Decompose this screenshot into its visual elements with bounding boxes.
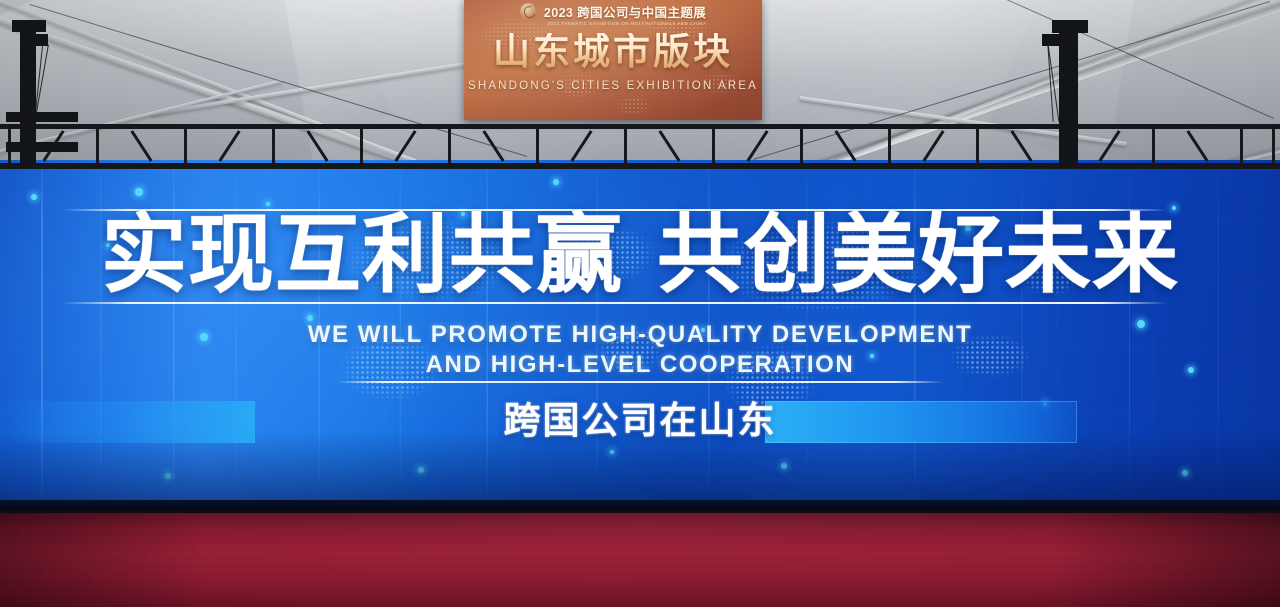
truss-brace	[746, 130, 768, 162]
led-video-wall: 实现互利共赢共创美好未来 WE WILL PROMOTE HIGH-QUALIT…	[0, 160, 1280, 500]
led-particle	[31, 194, 37, 200]
truss-top-chord	[0, 124, 1280, 129]
lifting-tower-head-left	[12, 20, 46, 32]
truss-bottom-chord	[0, 163, 1280, 169]
truss-post	[1240, 128, 1243, 164]
banner-header-row: 2023 跨国公司与中国主题展	[464, 0, 762, 22]
stage-truss	[0, 124, 1280, 168]
banner-main-title-en: SHANDONG'S CITIES EXHIBITION AREA	[464, 79, 762, 92]
truss-brace	[1098, 130, 1120, 162]
banner-event-title-en: 2023 THEMATIC EXHIBITION ON MULTINATIONA…	[478, 21, 762, 26]
lifting-tower-bracket-right	[1042, 34, 1062, 46]
stage-front-edge	[0, 500, 1280, 513]
truss-post	[1272, 128, 1275, 164]
truss-post	[800, 128, 803, 164]
truss-brace	[394, 130, 416, 162]
truss-post	[976, 128, 979, 164]
led-particle	[553, 179, 559, 185]
truss-post	[360, 128, 363, 164]
truss-brace	[482, 130, 504, 162]
subtitle-line-1: WE WILL PROMOTE HIGH-QUALITY DEVELOPMENT	[0, 320, 1280, 350]
truss-post	[536, 128, 539, 164]
truss-brace	[658, 130, 680, 162]
stage-scene: 2023 跨国公司与中国主题展 2023 THEMATIC EXHIBITION…	[0, 0, 1280, 607]
exhibition-emblem-icon	[520, 3, 537, 20]
subtitle-bottom-rule	[336, 381, 944, 383]
led-particle	[135, 188, 143, 196]
truss-brace	[922, 130, 944, 162]
truss-brace	[1010, 130, 1032, 162]
lifting-tower-base-left	[6, 142, 78, 152]
banner-main-title-cn: 山东城市版块	[464, 33, 762, 70]
truss-brace	[834, 130, 856, 162]
lifting-tower-head-right	[1052, 20, 1088, 33]
truss-brace	[570, 130, 592, 162]
truss-post	[888, 128, 891, 164]
truss-post	[184, 128, 187, 164]
truss-brace	[130, 130, 152, 162]
lifting-tower-bracket-left	[26, 34, 48, 46]
truss-post	[272, 128, 275, 164]
truss-post	[1152, 128, 1155, 164]
red-carpet-floor	[0, 513, 1280, 607]
truss-brace	[218, 130, 240, 162]
led-headline: 实现互利共赢共创美好未来	[0, 212, 1280, 298]
led-particle	[266, 202, 270, 206]
truss-brace	[306, 130, 328, 162]
truss-post	[624, 128, 627, 164]
truss-brace	[1186, 130, 1208, 162]
led-tagline: 跨国公司在山东	[0, 398, 1280, 444]
carpet-vignette	[0, 513, 1280, 607]
subtitle-line-2: AND HIGH-LEVEL COOPERATION	[0, 350, 1280, 380]
truss-post	[448, 128, 451, 164]
banner-event-title-cn: 2023 跨国公司与中国主题展	[544, 2, 706, 21]
led-subtitle: WE WILL PROMOTE HIGH-QUALITY DEVELOPMENT…	[0, 320, 1280, 380]
headline-part-1: 实现互利共赢	[101, 207, 623, 303]
headline-part-2: 共创美好未来	[657, 207, 1179, 303]
lifting-tower-base-left	[6, 112, 78, 122]
hanging-exhibition-banner: 2023 跨国公司与中国主题展 2023 THEMATIC EXHIBITION…	[464, 0, 762, 120]
truss-post	[712, 128, 715, 164]
truss-post	[96, 128, 99, 164]
